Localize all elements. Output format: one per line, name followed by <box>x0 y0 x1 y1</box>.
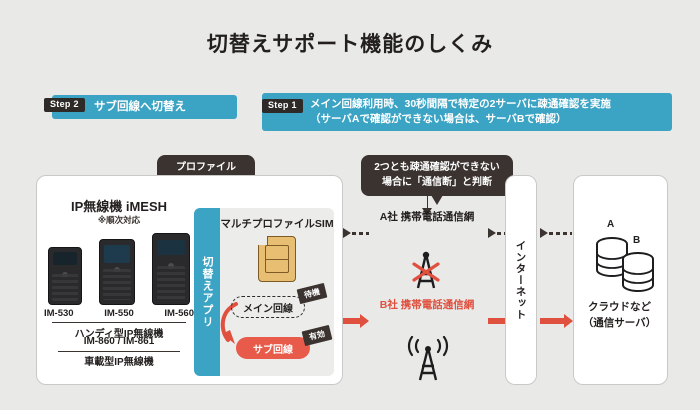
sim-card-notch <box>258 236 268 245</box>
device-keypad <box>103 269 130 300</box>
arrow-dots <box>549 232 572 235</box>
arrow-head-icon <box>360 314 369 328</box>
device-images <box>48 230 190 305</box>
arrow-dotted-cloud-to-internet <box>540 228 572 238</box>
switching-app-label: 切替えアプリ <box>194 208 220 376</box>
arrow-head-icon <box>564 314 573 328</box>
vehicle-caption: 車載型IP無線機 <box>44 353 194 368</box>
device-image-im550 <box>99 239 135 305</box>
device-screen <box>53 252 77 264</box>
callout-communication-down: 2つとも疎通確認ができない 場合に「通信断」と判断 <box>361 155 513 196</box>
cloud-caption: クラウドなど （通信サーバ） <box>573 300 666 332</box>
arrow-shaft <box>540 318 564 324</box>
step-1-bar: メイン回線利用時、30秒間隔で特定の2サーバに疎通確認を実施 （サーバAで確認が… <box>262 93 672 131</box>
cell-tower-disabled-icon <box>404 250 448 292</box>
arrow-head-icon <box>540 228 548 238</box>
internet-label: インターネット <box>514 240 529 321</box>
vehicle-models: IM-860 / IM-861 <box>44 336 194 347</box>
arrow-red-sim-to-carrier-b <box>343 315 369 327</box>
sub-line-pill: サブ回線 <box>236 337 310 359</box>
device-panel-subtitle: ※順次対応 <box>44 214 194 226</box>
server-a-label: A <box>607 219 614 230</box>
arrow-head-icon <box>488 228 496 238</box>
device-name-0: IM-530 <box>44 308 74 319</box>
device-image-im560 <box>152 233 190 305</box>
step-2-badge: Step 2 <box>44 98 85 112</box>
arrow-red-internet-to-cloud <box>540 315 573 327</box>
device-image-im530 <box>48 247 82 305</box>
arrow-head-icon <box>343 228 351 238</box>
step-1-badge: Step 1 <box>262 99 303 113</box>
step-1-text: メイン回線利用時、30秒間隔で特定の2サーバに疎通確認を実施 （サーバAで確認が… <box>310 97 611 127</box>
sim-panel-title: マルチプロファイルSIM <box>220 216 334 231</box>
step-2-text: サブ回線へ切替え <box>94 99 186 116</box>
device-panel-title: IP無線機 iMESH <box>44 196 194 215</box>
diagram-canvas: 切替えサポート機能のしくみ サブ回線へ切替え Step 2 メイン回線利用時、3… <box>0 0 700 410</box>
arrow-dots <box>352 232 369 235</box>
divider-handy <box>52 322 186 323</box>
server-b-label: B <box>633 235 640 246</box>
carrier-b-label: B社 携帯電話通信網 <box>368 298 486 314</box>
device-keypad <box>52 274 78 301</box>
main-line-pill: メイン回線 <box>231 296 305 318</box>
arrow-shaft <box>343 318 360 324</box>
arrow-dotted-sim-to-carrier-a <box>343 228 369 238</box>
cell-tower-active-icon <box>404 336 452 382</box>
divider-vehicle <box>58 351 180 352</box>
device-name-1: IM-550 <box>104 308 134 319</box>
page-title: 切替えサポート機能のしくみ <box>0 28 700 58</box>
device-keypad <box>157 266 186 300</box>
device-name-row: IM-530 IM-550 IM-560 <box>44 308 194 319</box>
device-name-2: IM-560 <box>164 308 194 319</box>
carrier-a-label: A社 携帯電話通信網 <box>368 210 486 226</box>
device-screen <box>104 245 130 263</box>
device-screen <box>157 240 184 255</box>
database-b-icon <box>621 250 655 294</box>
internet-panel: インターネット <box>505 175 537 385</box>
